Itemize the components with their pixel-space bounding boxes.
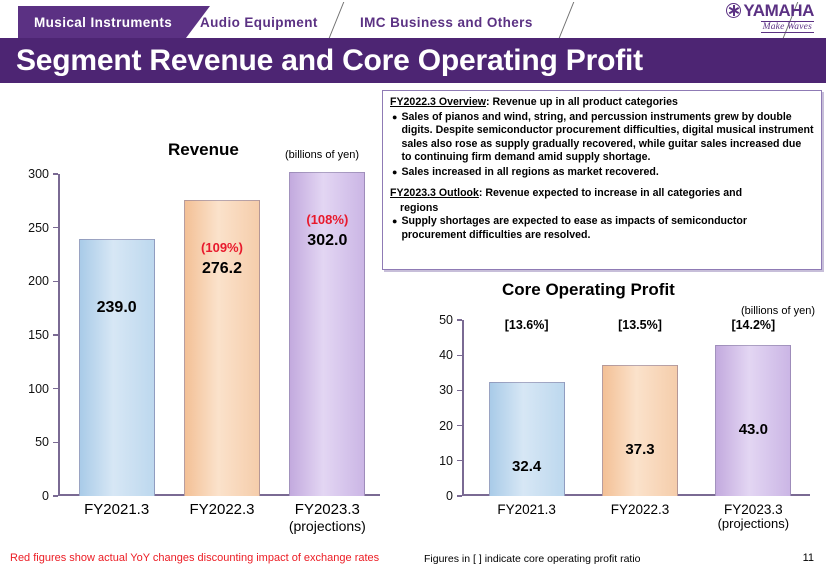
- profit-y-tick: [457, 460, 462, 461]
- overview-heading-rest: : Revenue up in all product categories: [486, 96, 678, 108]
- yamaha-wordmark: YAMAHA: [743, 2, 814, 19]
- overview-bullet-1: ● Sales of pianos and wind, string, and …: [390, 111, 814, 165]
- overview-heading: FY2022.3 Overview: Revenue up in all pro…: [390, 96, 814, 110]
- revenue-y-tick-label: 0: [42, 489, 49, 503]
- page-number: 11: [803, 552, 814, 564]
- profit-chart-plot: 0102030405032.4[13.6%]FY2021.337.3[13.5%…: [462, 320, 810, 496]
- profit-x-tick-label: FY2021.3: [471, 502, 583, 517]
- overview-callout: FY2022.3 Overview: Revenue up in all pro…: [382, 90, 822, 270]
- profit-bar-annotation: [14.2%]: [715, 318, 791, 332]
- footnote-black: Figures in [ ] indicate core operating p…: [424, 553, 641, 565]
- outlook-heading-cont: regions: [390, 202, 814, 216]
- revenue-x-tick-label: FY2021.3: [61, 502, 173, 519]
- bullet-dot-icon: ●: [392, 166, 397, 180]
- tab-audio-equipment-label: Audio Equipment: [200, 15, 318, 30]
- callout-spacer: [390, 180, 814, 187]
- revenue-y-tick-label: 150: [28, 328, 49, 342]
- overview-heading-underlined: FY2022.3 Overview: [390, 96, 486, 108]
- profit-y-tick: [457, 355, 462, 356]
- revenue-y-tick: [53, 495, 58, 496]
- page-title: Segment Revenue and Core Operating Profi…: [0, 44, 643, 78]
- revenue-y-tick: [53, 442, 58, 443]
- tab-divider-2: [559, 2, 575, 38]
- revenue-bar-value: 276.2: [184, 260, 260, 278]
- revenue-y-tick: [53, 281, 58, 282]
- title-band: Segment Revenue and Core Operating Profi…: [0, 38, 826, 83]
- overview-bullet-1-text: Sales of pianos and wind, string, and pe…: [401, 111, 814, 165]
- outlook-heading-rest: : Revenue expected to increase in all ca…: [479, 187, 742, 199]
- revenue-unit-label: (billions of yen): [285, 149, 359, 161]
- revenue-y-axis: [58, 174, 60, 496]
- profit-y-axis: [462, 320, 464, 496]
- profit-bar-annotation: [13.5%]: [602, 318, 678, 332]
- revenue-y-tick: [53, 388, 58, 389]
- revenue-y-tick: [53, 173, 58, 174]
- overview-bullet-2: ● Sales increased in all regions as mark…: [390, 166, 814, 180]
- profit-y-tick: [457, 425, 462, 426]
- profit-bar-value: 43.0: [715, 421, 791, 438]
- revenue-chart-title: Revenue: [168, 140, 239, 160]
- profit-x-tick-label: FY2022.3: [584, 502, 696, 517]
- revenue-y-tick-label: 100: [28, 382, 49, 396]
- tab-imc-business-and-others[interactable]: IMC Business and Others: [350, 6, 543, 38]
- footnote-red: Red figures show actual YoY changes disc…: [10, 552, 379, 564]
- tab-divider-1: [329, 2, 345, 38]
- revenue-bar-value: 239.0: [79, 299, 155, 317]
- revenue-bar-value: 302.0: [289, 232, 365, 250]
- revenue-x-tick-sublabel: (projections): [271, 519, 383, 535]
- profit-bar-value: 37.3: [602, 441, 678, 458]
- revenue-chart-plot: 050100150200250300239.0FY2021.3276.2(109…: [58, 174, 380, 496]
- revenue-y-tick: [53, 334, 58, 335]
- revenue-bar-annotation: (108%): [289, 212, 365, 227]
- revenue-y-tick-label: 300: [28, 167, 49, 181]
- revenue-bar: [79, 239, 155, 496]
- profit-x-tick-sublabel: (projections): [697, 517, 809, 532]
- profit-chart-title: Core Operating Profit: [502, 280, 675, 300]
- profit-bar-annotation: [13.6%]: [489, 318, 565, 332]
- profit-y-tick: [457, 319, 462, 320]
- profit-y-tick: [457, 390, 462, 391]
- outlook-heading: FY2023.3 Outlook: Revenue expected to in…: [390, 187, 814, 201]
- tab-musical-instruments[interactable]: Musical Instruments: [18, 6, 186, 38]
- profit-y-tick-label: 0: [446, 489, 453, 503]
- profit-y-tick-label: 30: [439, 383, 453, 397]
- profit-bar-value: 32.4: [489, 458, 565, 475]
- revenue-x-tick-label: FY2023.3(projections): [271, 502, 383, 534]
- yamaha-tagline: Make Waves: [761, 21, 814, 33]
- bullet-dot-icon: ●: [392, 111, 397, 165]
- revenue-bar-annotation: (109%): [184, 240, 260, 255]
- outlook-heading-underlined: FY2023.3 Outlook: [390, 187, 479, 199]
- profit-bar: [602, 365, 678, 496]
- bullet-dot-icon: ●: [392, 215, 397, 242]
- revenue-y-tick-label: 50: [35, 435, 49, 449]
- revenue-y-tick-label: 200: [28, 274, 49, 288]
- revenue-y-tick-label: 250: [28, 221, 49, 235]
- tab-imc-business-and-others-label: IMC Business and Others: [360, 15, 533, 30]
- tab-musical-instruments-label: Musical Instruments: [34, 15, 172, 30]
- tab-audio-equipment[interactable]: Audio Equipment: [190, 6, 328, 38]
- revenue-y-tick: [53, 227, 58, 228]
- outlook-bullet-1: ● Supply shortages are expected to ease …: [390, 215, 814, 242]
- segment-tabbar: Musical Instruments Audio Equipment IMC …: [0, 0, 826, 38]
- profit-unit-label: (billions of yen): [741, 305, 815, 317]
- outlook-bullet-1-text: Supply shortages are expected to ease as…: [401, 215, 814, 242]
- profit-y-tick-label: 10: [439, 454, 453, 468]
- profit-bar: [489, 382, 565, 496]
- yamaha-tuning-fork-icon: [726, 3, 741, 18]
- profit-y-tick-label: 50: [439, 313, 453, 327]
- yamaha-logo: YAMAHA Make Waves: [702, 2, 814, 36]
- profit-y-tick-label: 20: [439, 419, 453, 433]
- profit-y-tick: [457, 495, 462, 496]
- profit-y-tick-label: 40: [439, 348, 453, 362]
- profit-x-tick-label: FY2023.3(projections): [697, 502, 809, 532]
- revenue-x-tick-label: FY2022.3: [166, 502, 278, 519]
- overview-bullet-2-text: Sales increased in all regions as market…: [401, 166, 658, 180]
- slide: Musical Instruments Audio Equipment IMC …: [0, 0, 826, 572]
